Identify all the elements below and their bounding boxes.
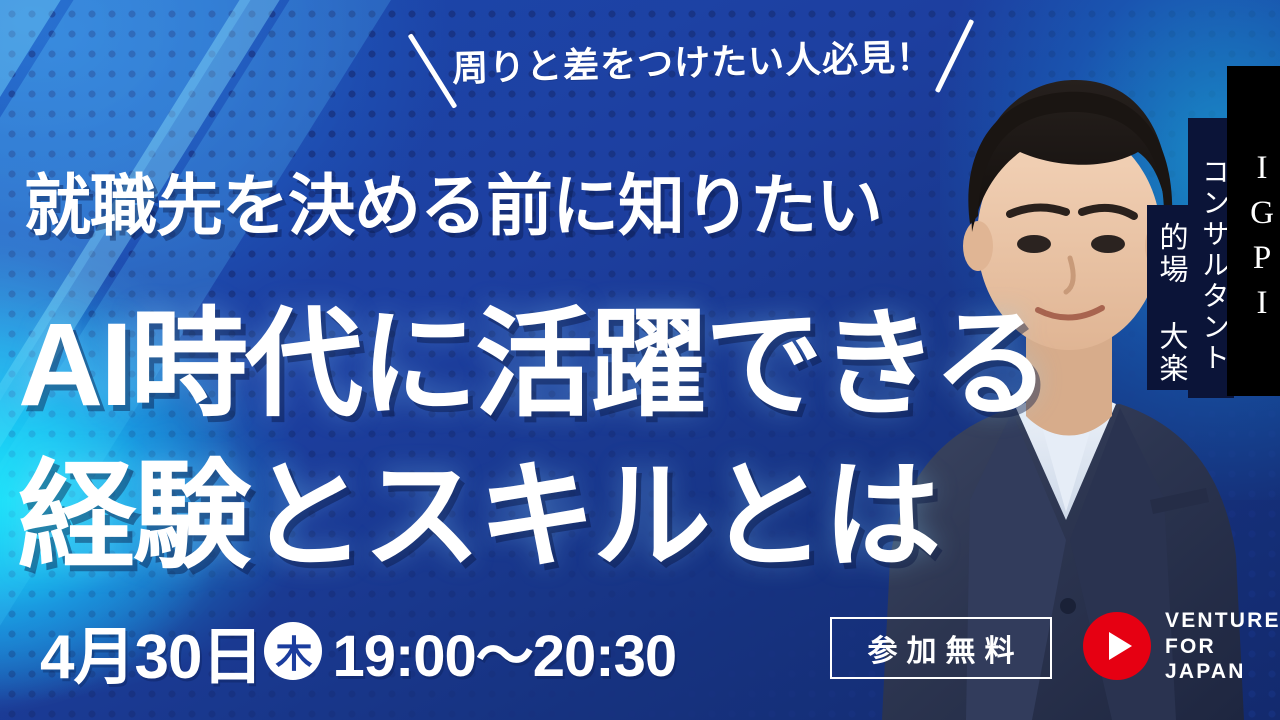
- logo-wordmark: VENTURE FOR JAPAN: [1165, 608, 1280, 685]
- venture-for-japan-logo: VENTURE FOR JAPAN: [1083, 608, 1280, 685]
- speaker-name-panel: 的場 大楽: [1147, 205, 1192, 390]
- webinar-banner: 周りと差をつけたい人必見！ 就職先を決める前に知りたい AI時代に活躍できる 経…: [0, 0, 1280, 720]
- free-admission-label: 参加無料: [859, 626, 1024, 670]
- logo-line-3: JAPAN: [1165, 659, 1280, 685]
- headline-line-2: 経験とスキルとは: [18, 420, 938, 591]
- subheadline: 就職先を決める前に知りたい: [24, 152, 882, 249]
- headline-line-1: AI時代に活躍できる: [18, 268, 1048, 439]
- speaker-company-panel: IGPI: [1227, 66, 1280, 396]
- weekday-badge: 木: [264, 622, 322, 680]
- free-admission-badge: 参加無料: [830, 617, 1052, 679]
- event-date: 4月30日: [40, 606, 262, 696]
- logo-line-1: VENTURE: [1165, 608, 1280, 634]
- logo-line-2: FOR: [1165, 634, 1280, 660]
- play-triangle-icon: [1083, 612, 1151, 680]
- event-time: 19:00〜20:30: [332, 609, 676, 693]
- event-schedule: 4月30日 木 19:00〜20:30: [40, 606, 676, 696]
